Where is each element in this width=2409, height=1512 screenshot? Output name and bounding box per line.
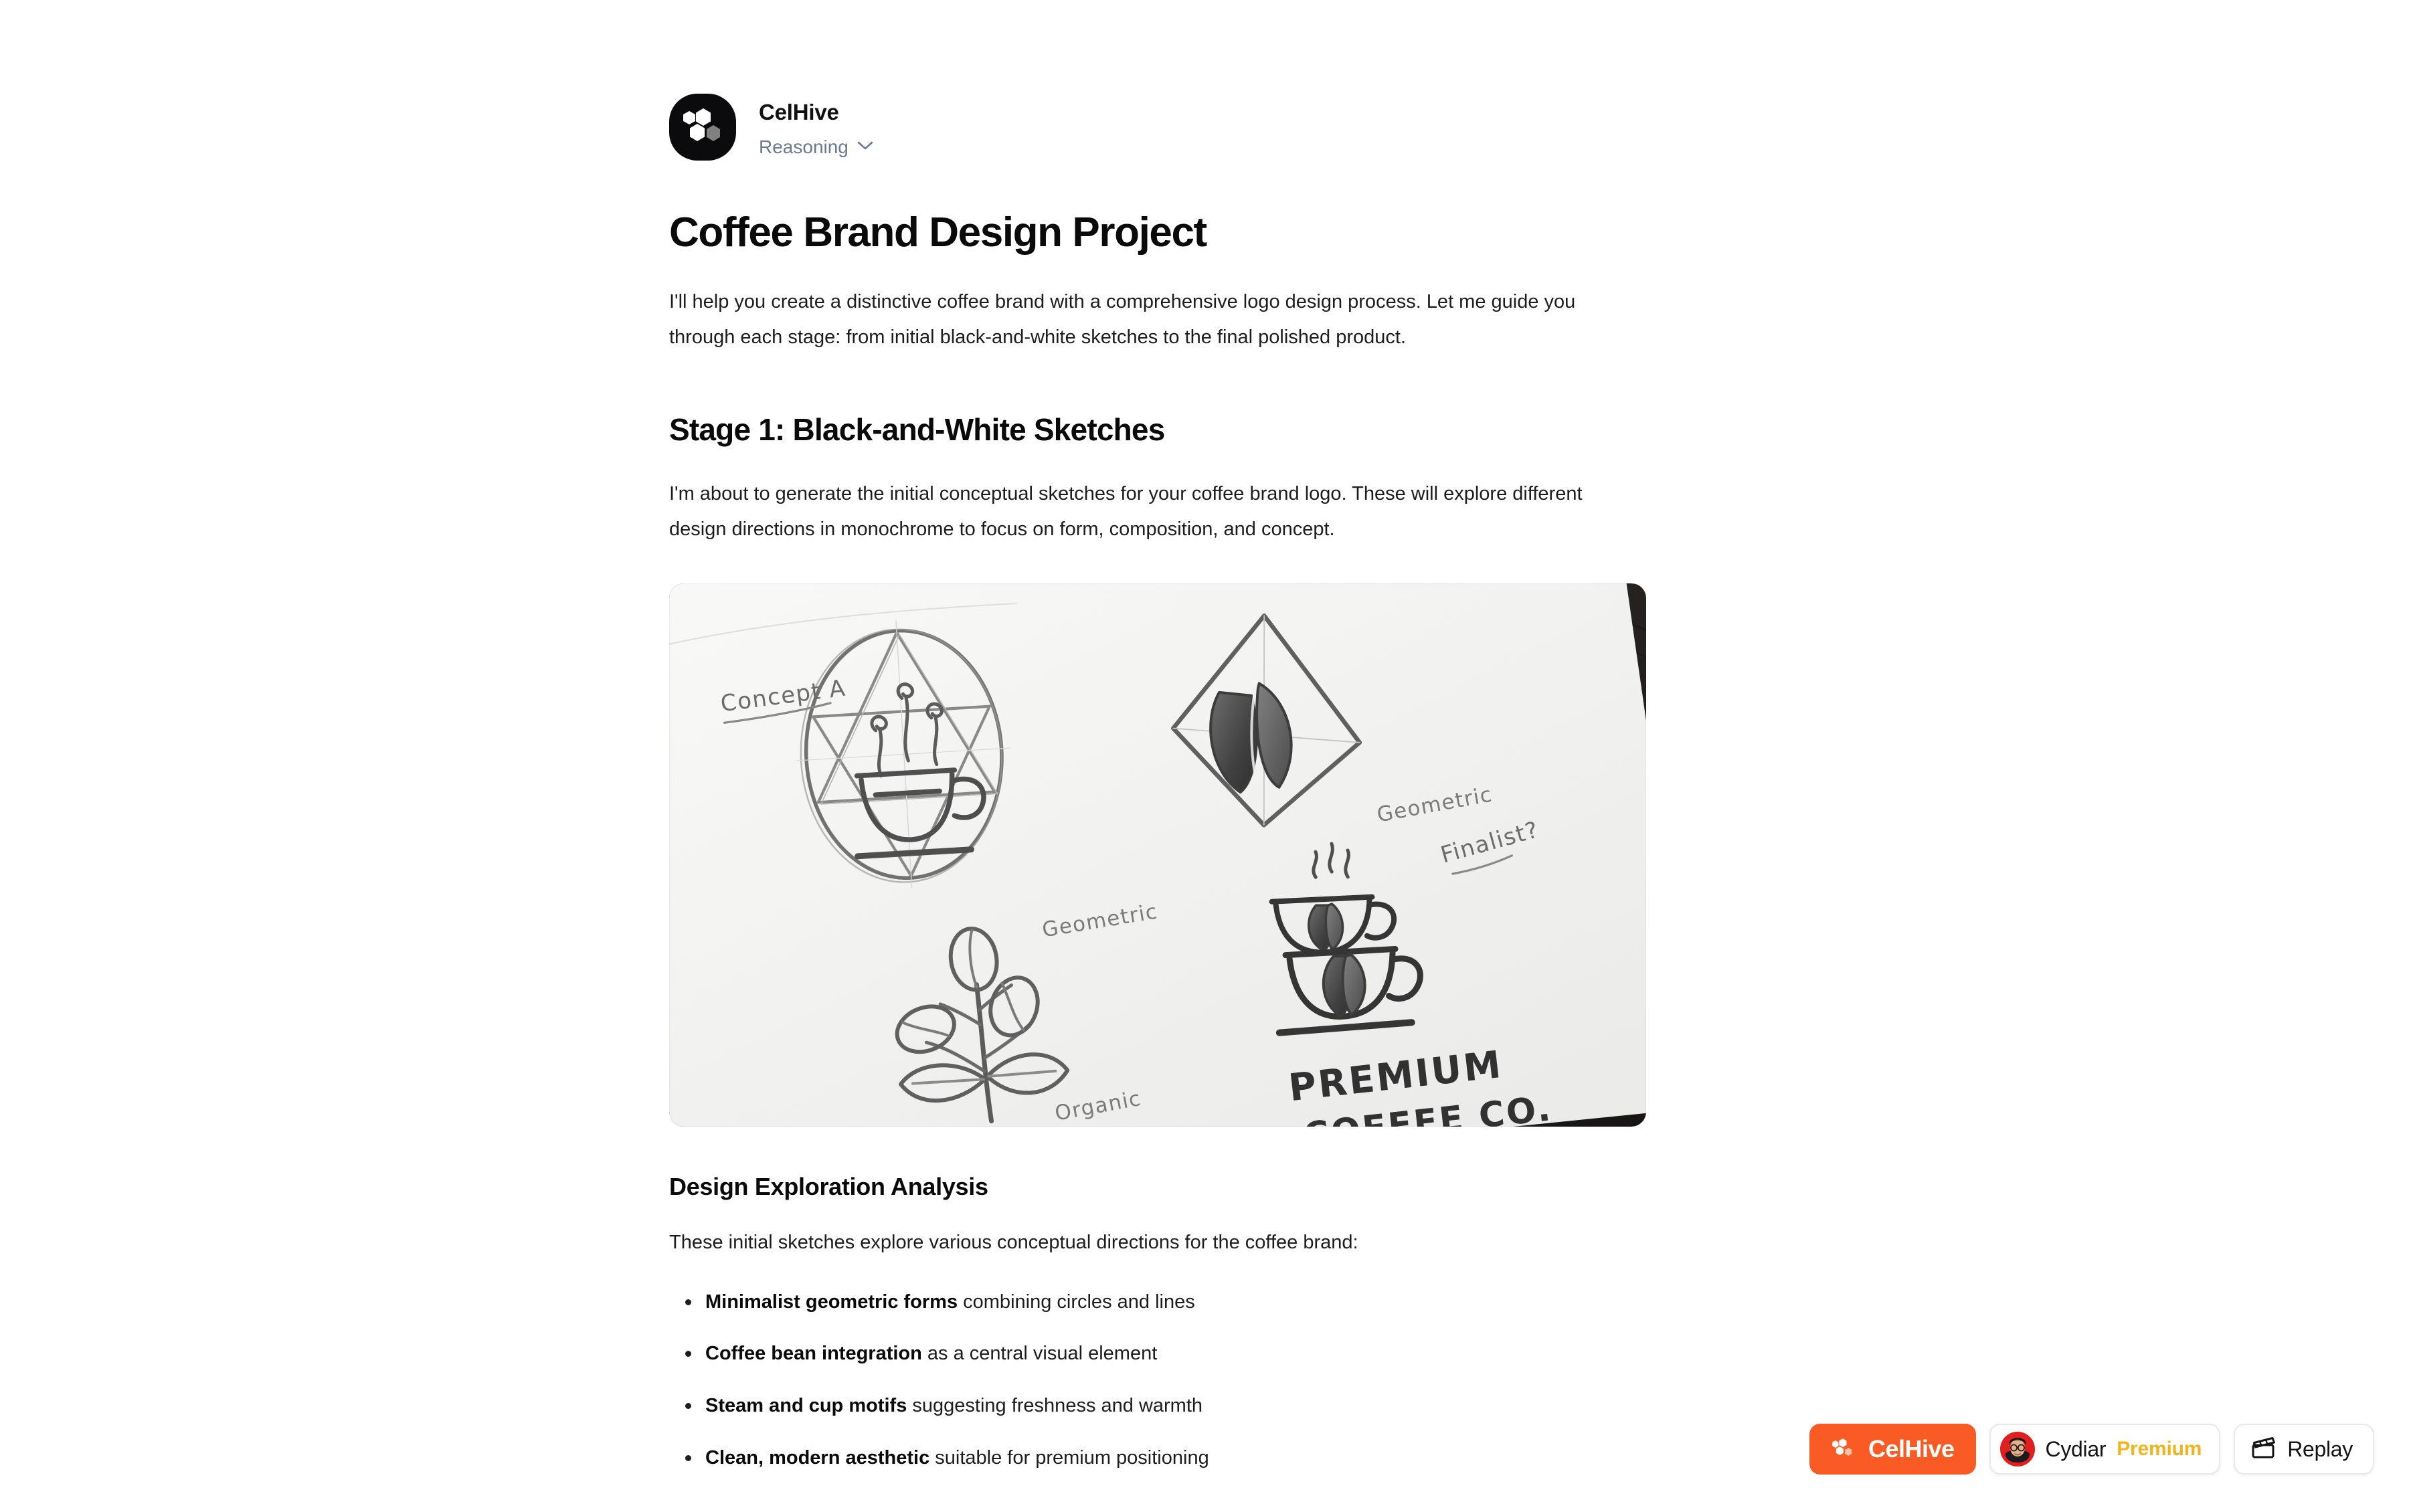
floating-toolbar: CelHive Cydiar Premium bbox=[1809, 1424, 2374, 1475]
reasoning-toggle[interactable]: Reasoning bbox=[759, 136, 874, 158]
celhive-hexagon-logo-icon bbox=[669, 94, 736, 161]
list-item-bold: Steam and cup motifs bbox=[705, 1395, 907, 1416]
list-item-bold: Clean, modern aesthetic bbox=[705, 1447, 929, 1469]
avatar bbox=[2000, 1432, 2035, 1467]
stage-heading: Stage 1: Black-and-White Sketches bbox=[669, 411, 1767, 448]
assistant-name: CelHive bbox=[759, 99, 874, 126]
reasoning-label: Reasoning bbox=[759, 136, 849, 158]
assistant-message: CelHive Reasoning Coffee Brand Design Pr… bbox=[669, 94, 1767, 1495]
sketch-image[interactable]: Concept A Geometric bbox=[669, 583, 1646, 1127]
celhive-hexagon-logo-icon bbox=[1827, 1432, 1858, 1467]
list-item-rest: as a central visual element bbox=[922, 1343, 1157, 1364]
list-item: Clean, modern aesthetic suitable for pre… bbox=[669, 1443, 1767, 1473]
replay-button[interactable]: Replay bbox=[2234, 1424, 2374, 1475]
list-item: Coffee bean integration as a central vis… bbox=[669, 1339, 1767, 1369]
celhive-brand-label: CelHive bbox=[1868, 1435, 1955, 1463]
analysis-heading: Design Exploration Analysis bbox=[669, 1172, 1767, 1201]
list-item-bold: Coffee bean integration bbox=[705, 1343, 922, 1364]
assistant-header: CelHive Reasoning bbox=[669, 94, 1767, 161]
list-item-rest: suitable for premium positioning bbox=[929, 1447, 1209, 1469]
analysis-bullet-list: Minimalist geometric forms combining cir… bbox=[669, 1287, 1767, 1474]
user-name-label: Cydiar bbox=[2046, 1437, 2107, 1462]
list-item-rest: suggesting freshness and warmth bbox=[907, 1395, 1202, 1416]
list-item: Minimalist geometric forms combining cir… bbox=[669, 1287, 1767, 1317]
assistant-meta: CelHive Reasoning bbox=[759, 94, 874, 158]
list-item-bold: Minimalist geometric forms bbox=[705, 1291, 958, 1313]
analysis-intro: These initial sketches explore various c… bbox=[669, 1225, 1599, 1260]
list-item: Steam and cup motifs suggesting freshnes… bbox=[669, 1391, 1767, 1421]
intro-paragraph: I'll help you create a distinctive coffe… bbox=[669, 284, 1599, 355]
stage-paragraph: I'm about to generate the initial concep… bbox=[669, 476, 1599, 547]
list-item-rest: combining circles and lines bbox=[958, 1291, 1195, 1313]
celhive-brand-button[interactable]: CelHive bbox=[1809, 1424, 1976, 1475]
status-badge: Premium bbox=[2117, 1438, 2202, 1460]
replay-label: Replay bbox=[2287, 1437, 2353, 1462]
chevron-down-icon bbox=[857, 140, 874, 154]
app-root: CelHive Reasoning Coffee Brand Design Pr… bbox=[0, 0, 2409, 1512]
clapperboard-icon bbox=[2251, 1436, 2278, 1463]
page-title: Coffee Brand Design Project bbox=[669, 209, 1767, 256]
user-account-button[interactable]: Cydiar Premium bbox=[1989, 1424, 2221, 1475]
